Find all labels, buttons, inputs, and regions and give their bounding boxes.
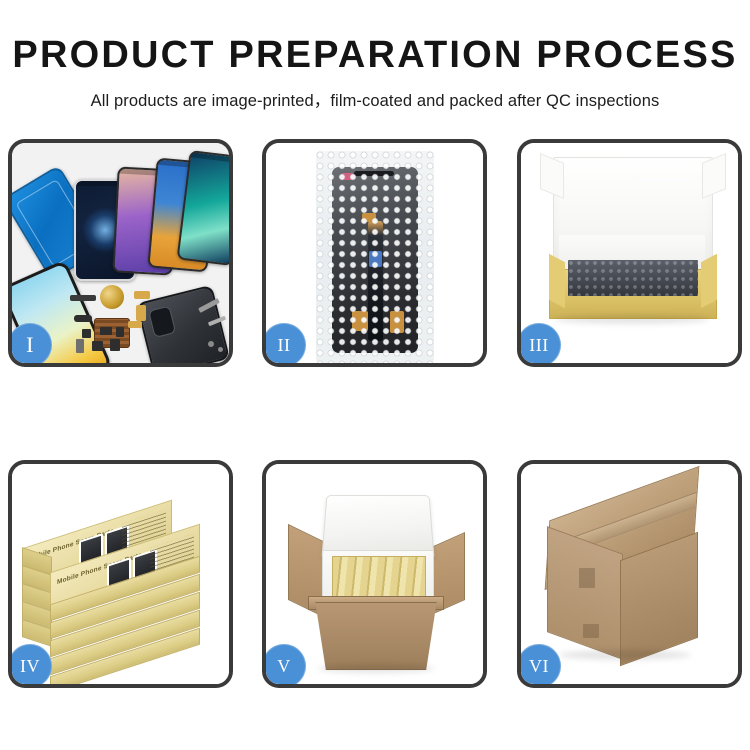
tray-left-corner bbox=[549, 254, 565, 309]
screw-part-2 bbox=[218, 347, 223, 352]
step-badge-4: IV bbox=[8, 644, 52, 688]
pink-qc-sticker bbox=[342, 173, 353, 180]
flex-cable-part-3 bbox=[128, 321, 142, 328]
step-badge-6: VI bbox=[517, 644, 561, 688]
speaker-part bbox=[70, 295, 96, 301]
connector-right bbox=[390, 311, 404, 333]
small-part-6 bbox=[92, 341, 103, 351]
step-badge-1: I bbox=[8, 323, 52, 367]
steps-grid: I II bbox=[0, 0, 750, 750]
step-panel-4: Mobile Phone Spare Parts Mobile Phone Sp… bbox=[8, 460, 233, 688]
screw-part-1 bbox=[208, 341, 214, 347]
step-panel-6: VI bbox=[517, 460, 742, 688]
step-panel-1: I bbox=[8, 139, 233, 367]
carton-front-face bbox=[310, 602, 442, 670]
carton-shadow bbox=[318, 664, 434, 673]
screen-notch bbox=[354, 171, 394, 176]
product-preparation-infographic: PRODUCT PREPARATION PROCESS All products… bbox=[0, 0, 750, 750]
carton-handle-tab-top bbox=[579, 568, 595, 588]
step-badge-2: II bbox=[262, 323, 306, 367]
small-part-5 bbox=[76, 339, 84, 353]
small-part-2 bbox=[82, 329, 91, 338]
small-part-4 bbox=[116, 327, 124, 337]
step-panel-3: III bbox=[517, 139, 742, 367]
bubble-wrap-bag bbox=[316, 151, 434, 363]
small-part-1 bbox=[74, 315, 92, 322]
yellow-box-tray bbox=[549, 269, 717, 319]
box-shadow bbox=[555, 315, 709, 324]
step-panel-5: V bbox=[262, 460, 487, 688]
tray-right-corner bbox=[701, 254, 717, 309]
gold-coil-part bbox=[100, 285, 124, 309]
small-part-3 bbox=[100, 327, 112, 335]
screen-flex-cable bbox=[368, 221, 383, 341]
connector-top bbox=[362, 213, 376, 222]
lcd-screen-assembly bbox=[332, 167, 418, 353]
step-badge-5: V bbox=[262, 644, 306, 688]
carton-shadow-6 bbox=[559, 650, 691, 660]
connector-left bbox=[352, 311, 368, 331]
step-panel-2: II bbox=[262, 139, 487, 367]
flex-cable-part-1 bbox=[134, 291, 150, 299]
carton-handle-tab-bottom bbox=[583, 624, 599, 638]
step-badge-3: III bbox=[517, 323, 561, 367]
box-stack: Mobile Phone Spare Parts Mobile Phone Sp… bbox=[16, 482, 229, 678]
small-part-7 bbox=[110, 339, 120, 351]
flex-cable-part-2 bbox=[136, 305, 146, 321]
bubble-wrapped-contents bbox=[568, 260, 698, 296]
